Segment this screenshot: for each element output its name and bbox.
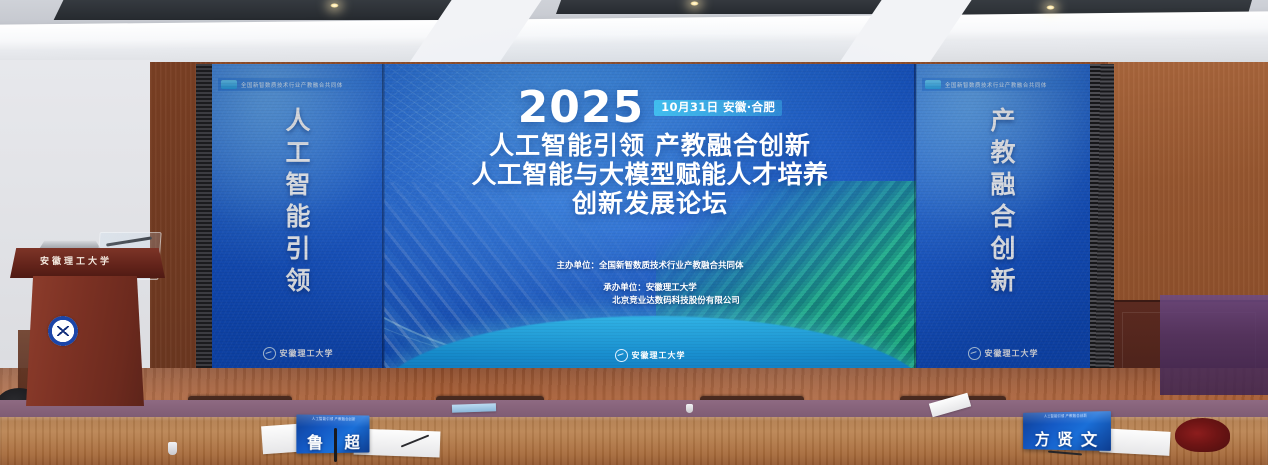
nameplate: 人工智能引领 产教融合创新 方贤文 <box>1023 411 1111 451</box>
lectern-university-label: 安徽理工大学 <box>10 254 142 267</box>
headline-line-3: 创新发展论坛 <box>384 189 916 218</box>
led-left-header: 全国新智数质技术行业产教融合共同体 <box>218 78 378 91</box>
university-seal-icon <box>48 316 78 346</box>
led-panel-right: 全国新智数质技术行业产教融合共同体 产 教 融 合 创 新 安徽理工大学 <box>916 64 1090 372</box>
headline-line-2: 人工智能与大模型赋能人才培养 <box>384 160 916 189</box>
water-cup <box>686 404 693 413</box>
vertical-char: 智 <box>285 172 310 197</box>
university-emblem-icon <box>615 349 628 362</box>
ceiling-spotlight-icon <box>1046 5 1055 10</box>
vertical-char: 引 <box>285 236 310 261</box>
vertical-char: 教 <box>990 140 1015 165</box>
table-microphone <box>334 428 337 462</box>
nameplate-subtitle: 人工智能引领 产教融合创新 <box>1023 413 1111 419</box>
university-emblem-icon <box>968 347 981 360</box>
speaker-column-right <box>1088 64 1114 372</box>
led-right-vertical-slogan: 产 教 融 合 创 新 <box>916 108 1090 293</box>
document-sheet <box>452 403 496 413</box>
university-name: 安徽理工大学 <box>280 348 334 359</box>
organizer-block: 主办单位：全国新智数质技术行业产教融合共同体 承办单位：安徽理工大学 北京竞业达… <box>384 260 916 307</box>
vertical-char: 产 <box>990 108 1015 133</box>
ceiling-panel <box>54 0 507 20</box>
vertical-char: 融 <box>990 172 1015 197</box>
organizer-value-2: 北京竞业达数码科技股份有限公司 <box>612 296 740 306</box>
led-left-header-text: 全国新智数质技术行业产教融合共同体 <box>241 80 343 88</box>
nameplate-name: 方贤文 <box>1028 432 1106 449</box>
university-name: 安徽理工大学 <box>985 348 1039 359</box>
vertical-char: 工 <box>285 140 310 165</box>
vertical-char: 创 <box>990 236 1015 261</box>
led-right-header-text: 全国新智数质技术行业产教融合共同体 <box>945 80 1047 88</box>
ceiling-spotlight-icon <box>690 1 699 6</box>
consortium-logo-icon <box>925 80 941 89</box>
nameplate-subtitle: 人工智能引领 产教融合创新 <box>296 416 369 422</box>
vertical-char: 领 <box>285 268 310 293</box>
university-name: 安徽理工大学 <box>632 350 686 361</box>
led-video-wall: 全国新智数质技术行业产教融合共同体 人 工 智 能 引 领 安徽理工大学 <box>212 64 1090 372</box>
ceiling-spotlight-icon <box>330 3 339 8</box>
led-right-university-logo: 安徽理工大学 <box>916 347 1090 360</box>
ceiling-panel <box>556 0 894 14</box>
lectern-laptop <box>39 241 101 249</box>
event-year: 2025 <box>518 86 644 130</box>
main-title-block: 2025 10月31日 安徽·合肥 人工智能引领 产教融合创新 人工智能与大模型… <box>384 86 916 218</box>
led-left-university-logo: 安徽理工大学 <box>212 347 384 360</box>
led-right-header: 全国新智数质技术行业产教融合共同体 <box>922 78 1084 91</box>
consortium-logo-icon <box>221 80 237 89</box>
water-cup <box>168 442 177 455</box>
flower-arrangement <box>1175 418 1230 452</box>
led-panel-left: 全国新智数质技术行业产教融合共同体 人 工 智 能 引 领 安徽理工大学 <box>212 64 384 372</box>
led-panel-main: 2025 10月31日 安徽·合肥 人工智能引领 产教融合创新 人工智能与大模型… <box>384 64 916 372</box>
host-label: 主办单位： <box>556 261 599 271</box>
university-emblem-icon <box>263 347 276 360</box>
speaker-column-left <box>196 64 212 372</box>
vertical-char: 新 <box>990 268 1015 293</box>
headline-line-1: 人工智能引领 产教融合创新 <box>384 131 916 160</box>
event-date-location-badge: 10月31日 安徽·合肥 <box>654 100 782 117</box>
conference-hall-photo: 全国新智数质技术行业产教融合共同体 人 工 智 能 引 领 安徽理工大学 <box>0 0 1268 465</box>
led-left-vertical-slogan: 人 工 智 能 引 领 <box>212 108 384 293</box>
vertical-char: 能 <box>285 204 310 229</box>
stage-right-curtain <box>1160 295 1268 395</box>
vertical-char: 人 <box>285 108 310 133</box>
lectern: 安徽理工大学 <box>10 248 165 410</box>
nameplate: 人工智能引领 产教融合创新 鲁 超 <box>296 414 369 453</box>
organizer-label: 承办单位： <box>603 283 646 293</box>
led-main-university-logo: 安徽理工大学 <box>384 349 916 362</box>
host-value: 全国新智数质技术行业产教融合共同体 <box>599 261 744 271</box>
vertical-char: 合 <box>990 204 1015 229</box>
organizer-value-1: 安徽理工大学 <box>646 283 697 293</box>
lectern-body <box>26 276 144 406</box>
